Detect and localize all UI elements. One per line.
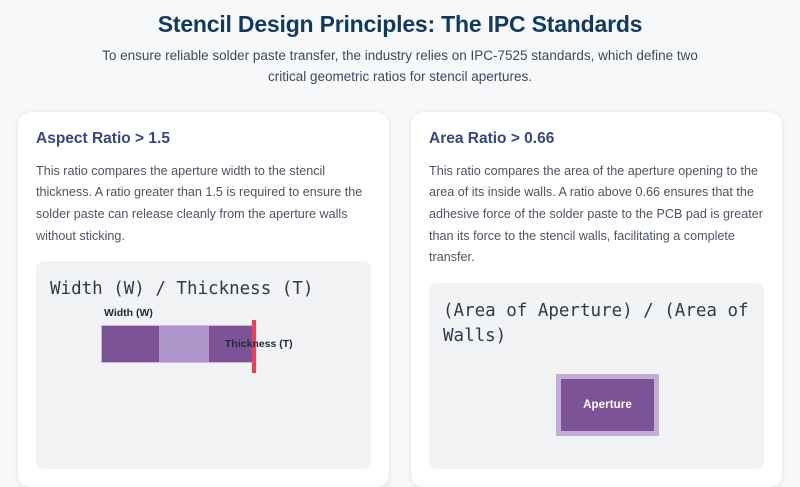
card-title-area-ratio: Area Ratio > 0.66 (429, 130, 764, 149)
card-body-aspect-ratio: This ratio compares the aperture width t… (36, 161, 371, 248)
aperture-box: Aperture (556, 374, 659, 436)
formula-area-ratio: (Area of Aperture) / (Area of Walls) (443, 299, 750, 350)
diagram-area-ratio: Aperture (443, 360, 750, 455)
card-body-area-ratio: This ratio compares the area of the aper… (429, 161, 764, 269)
formula-panel-aspect-ratio: Width (W) / Thickness (T) Width (W) Thic… (36, 261, 371, 468)
card-title-aspect-ratio: Aspect Ratio > 1.5 (36, 130, 371, 149)
page-header: Stencil Design Principles: The IPC Stand… (0, 0, 800, 88)
stencil-bar-segment-left (102, 326, 159, 362)
diagram-label-width: Width (W) (104, 307, 153, 319)
formula-panel-area-ratio: (Area of Aperture) / (Area of Walls) Ape… (429, 283, 764, 469)
diagram-aspect-ratio: Width (W) Thickness (T) (50, 305, 357, 405)
page-root: Stencil Design Principles: The IPC Stand… (0, 0, 800, 447)
page-subtitle: To ensure reliable solder paste transfer… (90, 46, 710, 88)
card-area-ratio: Area Ratio > 0.66 This ratio compares th… (411, 112, 782, 487)
stencil-bar-segment-aperture (159, 326, 209, 362)
card-aspect-ratio: Aspect Ratio > 1.5 This ratio compares t… (18, 112, 389, 487)
page-title: Stencil Design Principles: The IPC Stand… (0, 10, 800, 40)
cards-row: Aspect Ratio > 1.5 This ratio compares t… (18, 112, 782, 487)
aperture-box-label: Aperture (583, 399, 632, 411)
diagram-label-thickness: Thickness (T) (225, 338, 293, 350)
formula-aspect-ratio: Width (W) / Thickness (T) (50, 277, 357, 302)
